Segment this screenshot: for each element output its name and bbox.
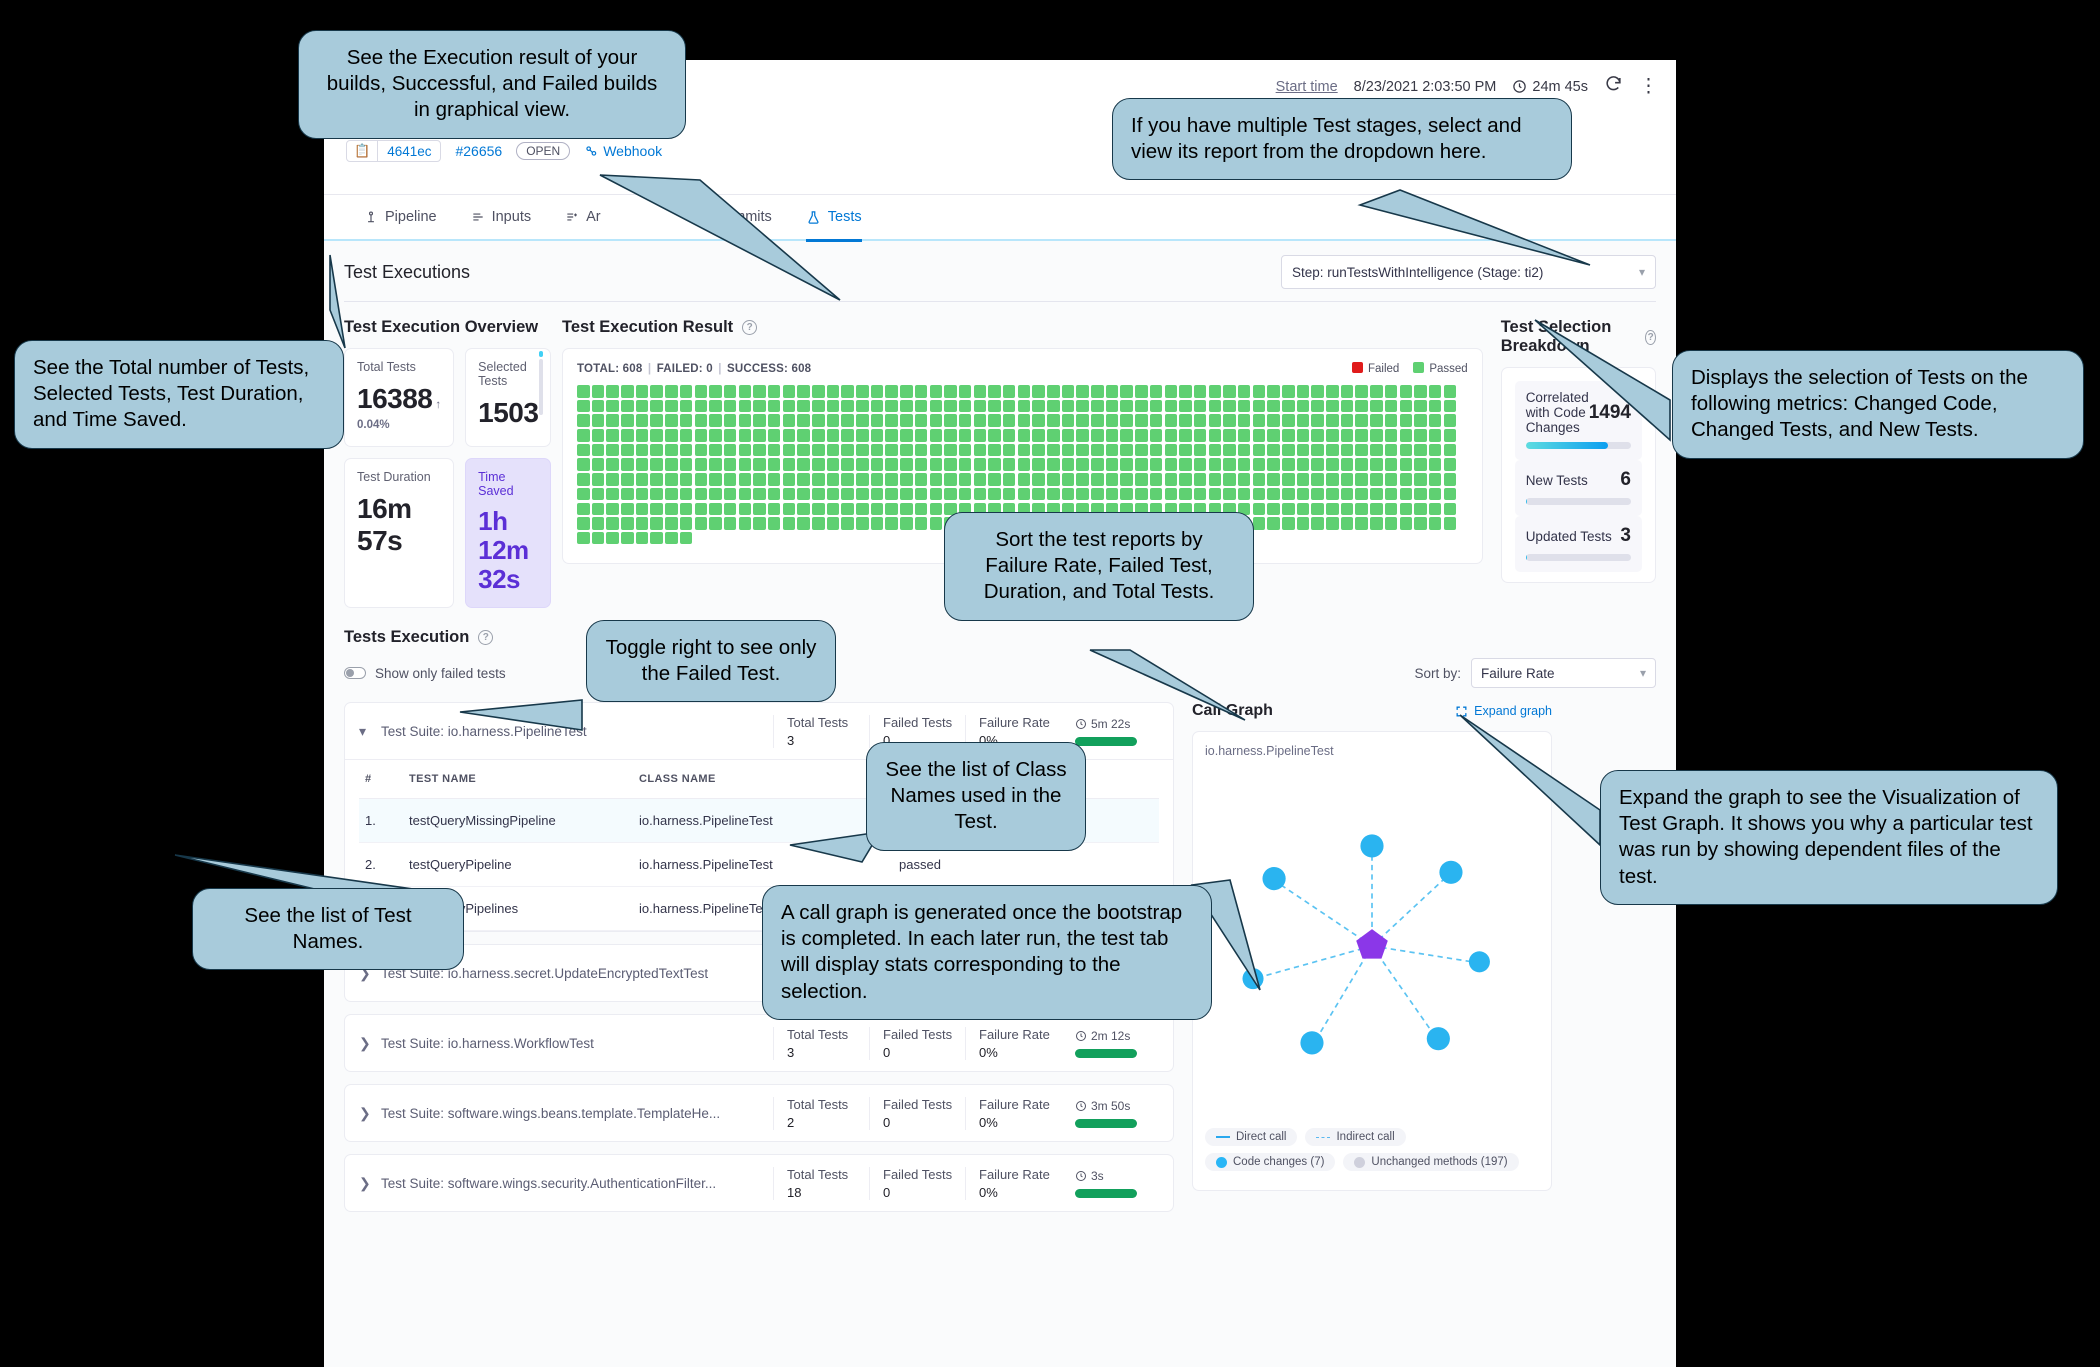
callout-class-names: See the list of Class Names used in the …	[866, 742, 1086, 851]
tail-expand	[1460, 715, 1600, 845]
tail-exec-result	[600, 175, 840, 300]
tail-totals	[330, 255, 345, 348]
callout-metrics: Displays the selection of Tests on the f…	[1672, 350, 2084, 459]
tail-sort	[1090, 650, 1245, 720]
tail-toggle	[460, 700, 582, 730]
callout-totals: See the Total number of Tests, Selected …	[14, 340, 344, 449]
callout-exec-result: See the Execution result of your builds,…	[298, 30, 686, 139]
callout-call-graph: A call graph is generated once the boots…	[762, 885, 1212, 1020]
callout-test-names: See the list of Test Names.	[192, 888, 464, 970]
callout-expand: Expand the graph to see the Visualizatio…	[1600, 770, 2058, 905]
callout-tails	[0, 0, 2100, 1367]
tail-metrics	[1535, 320, 1670, 440]
tail-multi-stage	[1360, 190, 1590, 265]
callout-multi-stage: If you have multiple Test stages, select…	[1112, 98, 1572, 180]
callout-sort: Sort the test reports by Failure Rate, F…	[944, 512, 1254, 621]
callout-toggle: Toggle right to see only the Failed Test…	[586, 620, 836, 702]
